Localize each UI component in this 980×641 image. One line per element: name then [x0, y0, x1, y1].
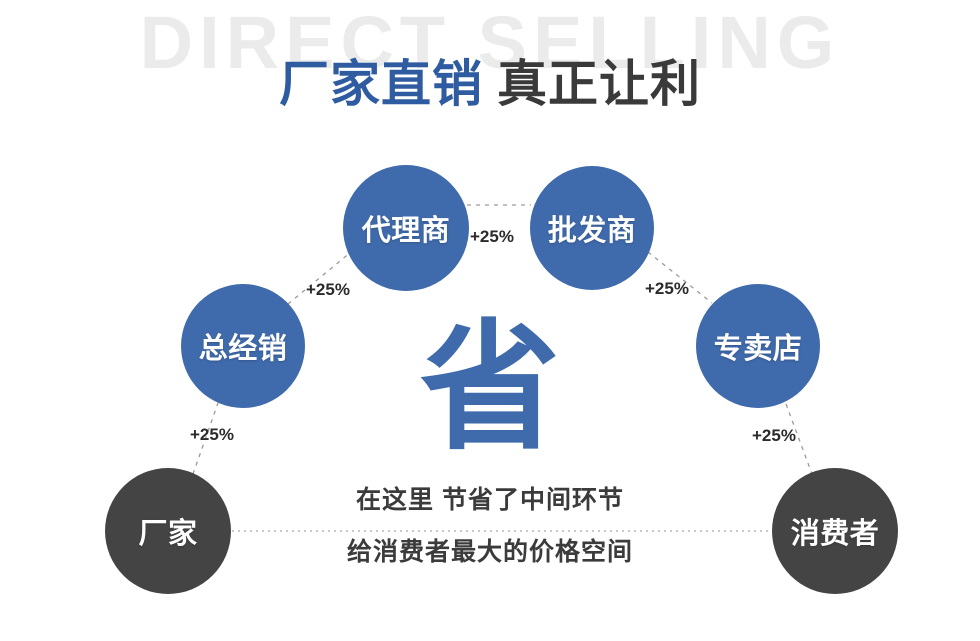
node-wholesaler-label: 批发商 [548, 207, 637, 249]
node-agent-label: 代理商 [362, 207, 451, 249]
node-manufacturer-label: 厂家 [138, 510, 197, 552]
center-tagline-line1: 在这里 节省了中间环节 [240, 488, 740, 513]
node-agent[interactable]: 代理商 [343, 165, 469, 291]
markup-label-manufacturer-distributor: +25% [190, 425, 234, 445]
center-tagline-line2: 给消费者最大的价格空间 [240, 540, 740, 565]
node-wholesaler[interactable]: 批发商 [530, 166, 654, 290]
markup-label-store-consumer: +25% [752, 426, 796, 446]
infographic-canvas: DIRECT SELLING 厂家直销真正让利 厂家 总经销 代理商 批发商 专… [0, 0, 980, 641]
node-manufacturer[interactable]: 厂家 [105, 468, 231, 594]
center-glyph-save: 省 [390, 318, 590, 458]
node-distributor-label: 总经销 [199, 325, 288, 367]
node-retail-store[interactable]: 专卖店 [696, 284, 820, 408]
node-retail-store-label: 专卖店 [714, 325, 803, 367]
center-taglines: 在这里 节省了中间环节 给消费者最大的价格空间 [240, 488, 740, 565]
node-consumer-label: 消费者 [791, 510, 880, 552]
markup-label-wholesaler-store: +25% [645, 279, 689, 299]
node-distributor[interactable]: 总经销 [181, 284, 305, 408]
markup-label-distributor-agent: +25% [306, 280, 350, 300]
node-consumer[interactable]: 消费者 [772, 468, 898, 594]
markup-label-agent-wholesaler: +25% [470, 227, 514, 247]
